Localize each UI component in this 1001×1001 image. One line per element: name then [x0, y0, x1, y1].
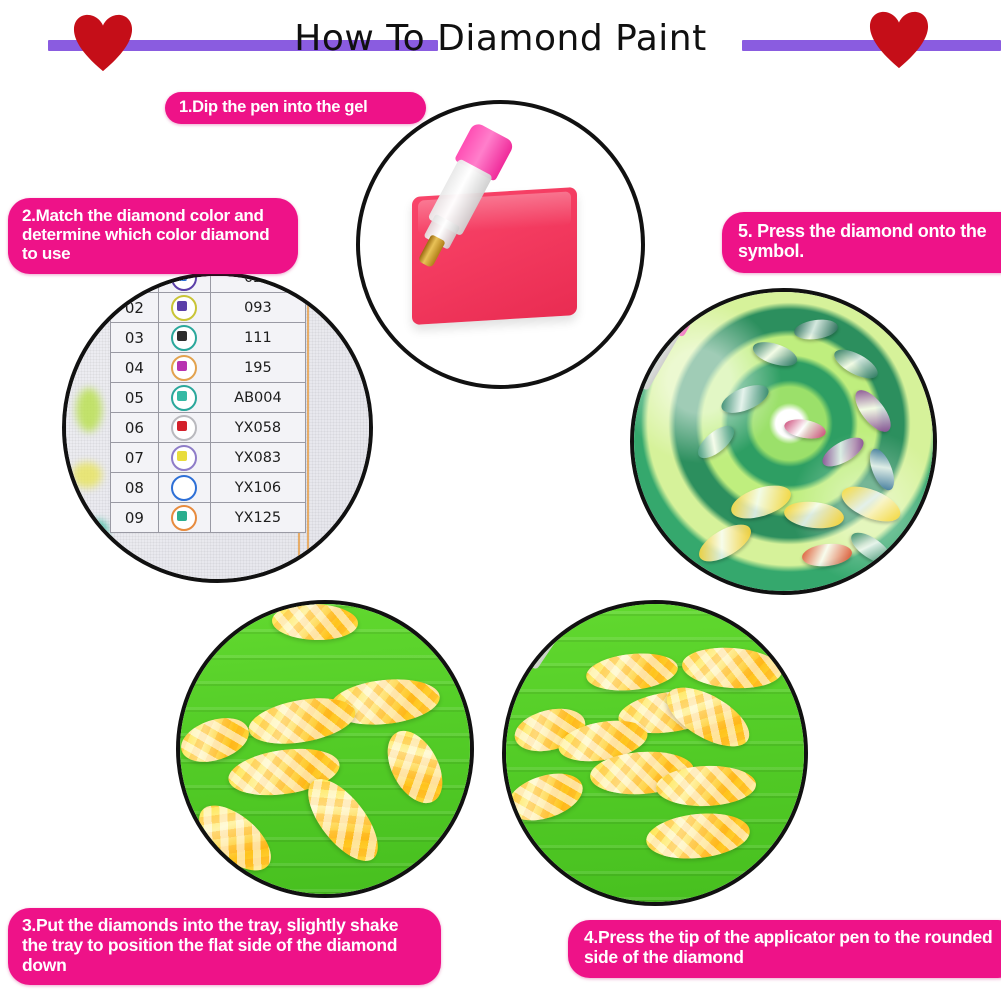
chart-symbol-purple-triangle-in-yellow-circle	[158, 293, 210, 323]
header-banner: How To Diamond Paint	[0, 0, 1001, 80]
step-1-label: 1.Dip the pen into the gel	[165, 92, 426, 124]
chart-symbol-blue-ring	[158, 473, 210, 503]
chart-number: 08	[111, 473, 159, 503]
chart-number: 02	[111, 293, 159, 323]
chart-number: 06	[111, 413, 159, 443]
chart-symbol-red-arrow-in-grey-circle	[158, 413, 210, 443]
step-2-photo: 02002093031110419505AB00406YX05807YX0830…	[62, 272, 373, 583]
table-row: 04195	[111, 353, 306, 383]
chart-symbol-teal-leaf-in-orange-outline	[158, 503, 210, 533]
step-4-photo	[502, 600, 808, 906]
chart-code: AB004	[210, 383, 305, 413]
table-row: 020	[111, 272, 306, 293]
step-5-label: 5. Press the diamond onto the symbol.	[722, 212, 1001, 273]
chart-number	[111, 272, 159, 293]
chart-code: YX083	[210, 443, 305, 473]
chart-number: 05	[111, 383, 159, 413]
paint-smudge	[86, 520, 108, 540]
page-title: How To Diamond Paint	[0, 18, 1001, 59]
table-row: 06YX058	[111, 413, 306, 443]
chart-number: 07	[111, 443, 159, 473]
pen-tip	[630, 388, 632, 434]
step-1-photo	[356, 100, 645, 389]
chart-number: 09	[111, 503, 159, 533]
step-3-label: 3.Put the diamonds into the tray, slight…	[8, 908, 441, 985]
chart-code: 111	[210, 323, 305, 353]
chart-symbol-magenta-triangle-in-orange-circle	[158, 353, 210, 383]
paint-smudge	[76, 388, 102, 432]
table-row: 09YX125	[111, 503, 306, 533]
paint-smudge	[72, 462, 102, 488]
chart-code: 195	[210, 353, 305, 383]
chart-number: 03	[111, 323, 159, 353]
step-3-photo	[176, 600, 474, 898]
chart-code: YX058	[210, 413, 305, 443]
chart-rule-line	[307, 276, 309, 579]
chart-symbol-partial	[158, 272, 210, 293]
chart-code: YX106	[210, 473, 305, 503]
table-row: 07YX083	[111, 443, 306, 473]
chart-symbol-yellow-dot-in-purple-circle	[158, 443, 210, 473]
step-4-label: 4.Press the tip of the applicator pen to…	[568, 920, 1001, 978]
table-row: 02093	[111, 293, 306, 323]
table-row: 03111	[111, 323, 306, 353]
chart-code: 020	[210, 272, 305, 293]
step-2-label: 2.Match the diamond color and determine …	[8, 198, 298, 274]
chart-symbol-plus-in-teal-circle	[158, 323, 210, 353]
chart-code: YX125	[210, 503, 305, 533]
paint-smudge	[68, 538, 90, 556]
color-symbol-table: 02002093031110419505AB00406YX05807YX0830…	[110, 272, 306, 533]
chart-number: 04	[111, 353, 159, 383]
chart-code: 093	[210, 293, 305, 323]
table-row: 05AB004	[111, 383, 306, 413]
table-row: 08YX106	[111, 473, 306, 503]
step-5-photo	[630, 288, 937, 595]
pen-tip	[418, 234, 446, 268]
chart-symbol-teal-oval-in-teal-circle	[158, 383, 210, 413]
